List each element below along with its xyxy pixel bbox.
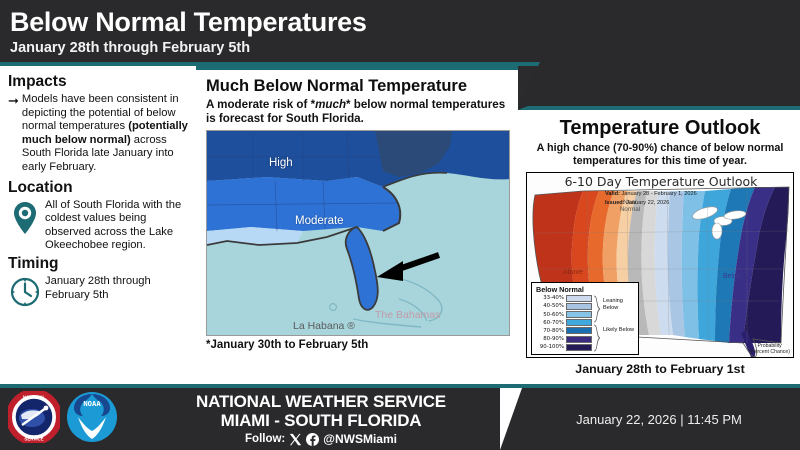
risk-label-moderate: Moderate [295,215,344,227]
agency-name-line2: MIAMI - SOUTH FLORIDA [122,411,520,430]
facebook-icon[interactable] [306,433,319,446]
svg-text:NATIONAL: NATIONAL [23,394,46,399]
timing-text: January 28th through February 5th [42,275,190,302]
outlook-map: 6-10 Day Temperature Outlook Valid: Janu… [526,172,794,358]
outlook-valid-value: January 28 - February 1, 2026 [621,191,696,197]
impacts-heading: Impacts [8,72,190,91]
nws-seal-icon: NATIONAL SERVICE [8,391,60,448]
location-text: All of South Florida with the coldest va… [42,199,190,253]
noaa-logo-icon: NOAA [66,391,118,448]
legend-swatch [566,311,592,318]
agency-name-line1: NATIONAL WEATHER SERVICE [122,392,520,411]
top-right-wedge [518,62,800,110]
risk-label-high: High [269,157,293,169]
timing-item: January 28th through February 5th [8,275,190,307]
outlook-region-label-above: Above [563,269,583,276]
legend-swatch [566,344,592,351]
legend-group-likely: Likely Below [603,327,634,333]
page-subtitle: January 28th through February 5th [10,39,800,58]
location-heading: Location [8,178,190,197]
clock-icon [8,275,42,307]
legend-pct: 33-40% [536,295,566,301]
page-footer: NATIONAL SERVICE NOAA NATIONAL WEATHER S… [0,388,800,450]
legend-row: 40-50% [536,302,592,310]
outlook-map-title: 6-10 Day Temperature Outlook [527,174,794,189]
impacts-sidebar: Impacts ➞ Models have been consistent in… [0,66,196,384]
page-header: Below Normal Temperatures January 28th t… [0,0,800,62]
center-panel-subtitle: A moderate risk of *much* below normal t… [206,98,510,126]
page-title: Below Normal Temperatures [10,6,800,38]
outlook-caption: January 28th to February 1st [526,362,794,376]
center-sub-pre: A moderate risk of * [206,98,315,111]
outlook-issued-value: January 22, 2026 [626,200,669,206]
legend-row: 70-80% [536,327,592,335]
legend-row: 90-100% [536,343,592,351]
legend-swatch [566,327,592,334]
center-sub-emphasis: much [315,98,346,111]
right-arrow-icon: ➞ [8,93,19,108]
much-below-normal-panel: Much Below Normal Temperature A moderate… [196,70,518,384]
legend-pct: 80-90% [536,336,566,342]
location-item: All of South Florida with the coldest va… [8,199,190,253]
outlook-valid-line: Valid: January 28 - February 1, 2026 [605,191,697,197]
legend-row: 60-70% [536,319,592,327]
legend-swatch [566,295,592,302]
probability-note-line2: (Percent Chance) [749,349,790,355]
svg-text:NOAA: NOAA [83,399,101,408]
geo-label-bahamas: The Bahamas [375,309,440,321]
timestamp: January 22, 2026 | 11:45 PM [576,412,742,427]
legend-pct: 40-50% [536,303,566,309]
legend-group-leaning: Leaning Below [603,298,635,311]
legend-row: 50-60% [536,310,592,318]
outlook-issued-line: Issued: January 22, 2026 [605,200,669,206]
x-twitter-icon[interactable] [289,433,302,446]
outlook-panel-subtitle: A high chance (70-90%) chance of below n… [526,142,794,168]
legend-swatch [566,319,592,326]
impacts-item: ➞ Models have been consistent in depicti… [8,93,190,175]
timing-heading: Timing [8,254,190,273]
legend-swatch [566,303,592,310]
temperature-outlook-panel: Temperature Outlook A high chance (70-90… [518,110,800,384]
footer-branding: NATIONAL SERVICE NOAA NATIONAL WEATHER S… [0,388,520,450]
outlook-panel-title: Temperature Outlook [526,116,794,140]
footer-timestamp-area: January 22, 2026 | 11:45 PM [518,388,800,450]
outlook-region-label-below: Below [723,273,742,280]
risk-map: High Moderate The Bahamas La Habana ® [206,130,510,336]
map-pin-icon [8,199,42,235]
center-footnote: *January 30th to February 5th [206,339,510,351]
probability-note: Probability (Percent Chance) [749,343,790,355]
legend-title: Below Normal [536,285,635,294]
legend-pct: 70-80% [536,328,566,334]
legend-row: 80-90% [536,335,592,343]
geo-label-la-habana: La Habana ® [293,320,355,332]
impacts-text: Models have been consistent in depicting… [19,93,190,175]
legend-pct: 50-60% [536,312,566,318]
outlook-valid-label: Valid: [605,191,620,197]
svg-text:SERVICE: SERVICE [24,436,43,441]
legend-row: 33-40% [536,294,592,302]
center-panel-title: Much Below Normal Temperature [206,76,510,96]
outlook-issued-label: Issued: [605,200,625,206]
follow-label: Follow: [245,433,285,445]
social-handle[interactable]: @NWSMiami [323,432,397,446]
legend-pct: 90-100% [536,344,566,350]
legend-swatch [566,336,592,343]
outlook-legend: Below Normal 33-40% 40-50% 50-60% [531,282,639,355]
follow-row: Follow: @NWSMiami [122,432,520,446]
legend-pct: 60-70% [536,320,566,326]
